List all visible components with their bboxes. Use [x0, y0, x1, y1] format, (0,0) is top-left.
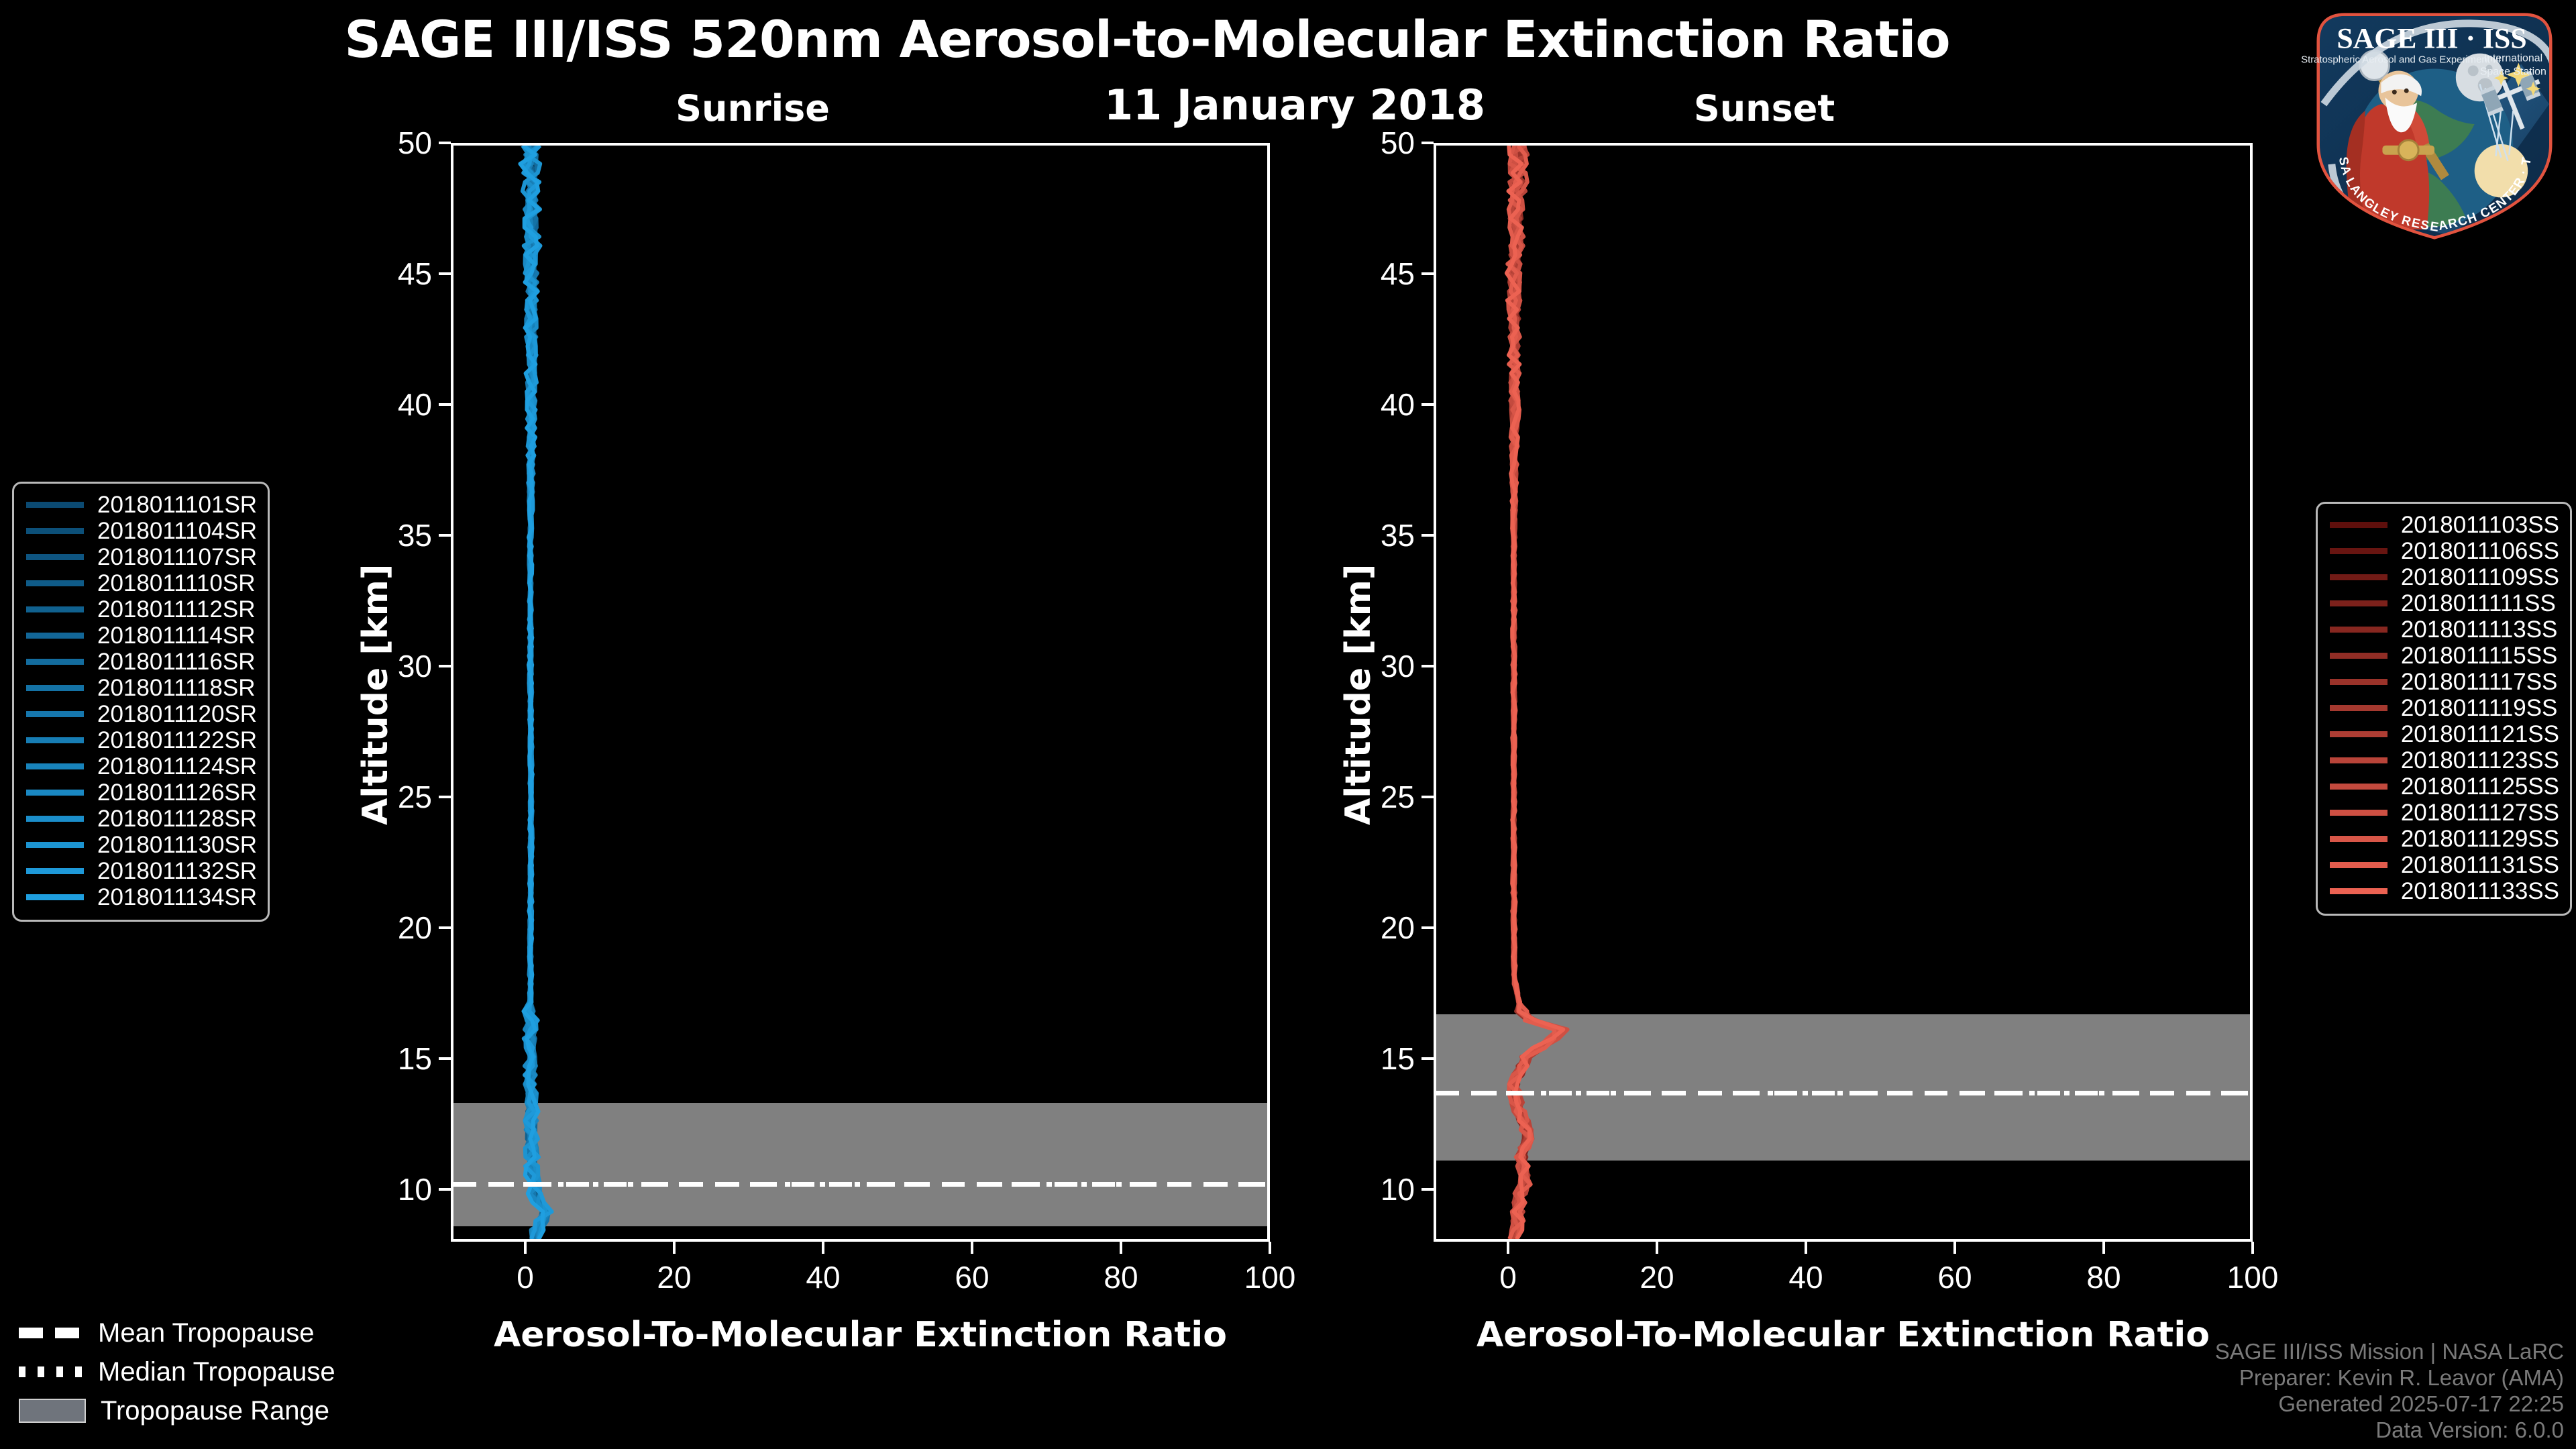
sunset-legend: 2018011103SS2018011106SS2018011109SS2018…: [2316, 502, 2572, 916]
x-tick-mark: [1269, 1242, 1271, 1254]
legend-color-swatch: [2330, 731, 2387, 737]
y-tick-label: 20: [1314, 910, 1415, 946]
legend-color-swatch: [26, 580, 84, 586]
legend-item-label: 2018011130SR: [97, 832, 257, 859]
legend-item-label: 2018011125SS: [2401, 773, 2559, 800]
ss-profile-curves: [1436, 146, 2250, 1239]
y-tick-label: 45: [1314, 256, 1415, 292]
sunset-panel-title: Sunset: [1597, 87, 1932, 129]
legend-item-median-tropopause: Median Tropopause: [19, 1352, 335, 1391]
sage-iii-iss-mission-patch: BALL · NASA LANGLEY RESEARCH CENTER · TA…: [2301, 4, 2568, 246]
x-tick-mark: [1120, 1242, 1122, 1254]
legend-item: 2018011113SS: [2330, 616, 2559, 643]
legend-color-swatch: [26, 528, 84, 534]
dotted-line-icon: [19, 1366, 83, 1377]
legend-item-label: 2018011113SS: [2401, 616, 2558, 643]
legend-item: 2018011120SR: [26, 701, 257, 727]
legend-item: 2018011134SR: [26, 884, 257, 910]
legend-color-swatch: [2330, 653, 2387, 659]
legend-item: 2018011117SS: [2330, 669, 2559, 695]
legend-color-swatch: [26, 763, 84, 769]
legend-item-label: 2018011117SS: [2401, 669, 2558, 696]
page-title: SAGE III/ISS 520nm Aerosol-to-Molecular …: [0, 9, 2294, 69]
legend-item: 2018011103SS: [2330, 512, 2559, 538]
legend-color-swatch: [2330, 862, 2387, 868]
legend-color-swatch: [26, 685, 84, 691]
y-tick-mark: [439, 1057, 451, 1060]
legend-item: 2018011130SR: [26, 832, 257, 858]
legend-color-swatch: [26, 711, 84, 717]
legend-color-swatch: [26, 868, 84, 874]
tropopause-range-label: Tropopause Range: [101, 1396, 329, 1426]
x-tick-label: 20: [621, 1259, 728, 1295]
y-tick-mark: [1421, 534, 1434, 537]
y-tick-mark: [1421, 272, 1434, 275]
y-tick-mark: [439, 534, 451, 537]
sunrise-legend: 2018011101SR2018011104SR2018011107SR2018…: [12, 482, 270, 922]
legend-color-swatch: [2330, 679, 2387, 685]
legend-item-label: 2018011133SS: [2401, 878, 2559, 905]
legend-item-label: 2018011116SR: [97, 649, 255, 676]
legend-item-mean-tropopause: Mean Tropopause: [19, 1313, 335, 1352]
legend-item-label: 2018011122SR: [97, 727, 257, 754]
y-tick-mark: [1421, 926, 1434, 929]
legend-color-swatch: [2330, 784, 2387, 790]
legend-item-label: 2018011132SR: [97, 858, 257, 885]
legend-item: 2018011122SR: [26, 727, 257, 753]
x-tick-label: 0: [472, 1259, 579, 1295]
x-tick-label: 40: [1752, 1259, 1860, 1295]
legend-color-swatch: [26, 894, 84, 900]
y-tick-mark: [1421, 1057, 1434, 1060]
filled-band-icon: [19, 1399, 86, 1423]
x-tick-mark: [2251, 1242, 2254, 1254]
y-tick-label: 10: [331, 1171, 432, 1207]
legend-item-label: 2018011126SR: [97, 780, 257, 806]
footer-line-preparer: Preparer: Kevin R. Leavor (AMA): [2215, 1365, 2564, 1391]
x-tick-mark: [2102, 1242, 2105, 1254]
median-tropopause-label: Median Tropopause: [98, 1357, 335, 1387]
footer-line-mission: SAGE III/ISS Mission | NASA LaRC: [2215, 1339, 2564, 1365]
legend-item: 2018011129SS: [2330, 826, 2559, 852]
legend-color-swatch: [26, 633, 84, 639]
legend-item: 2018011131SS: [2330, 852, 2559, 878]
y-tick-mark: [439, 403, 451, 406]
legend-color-swatch: [2330, 548, 2387, 554]
legend-color-swatch: [2330, 705, 2387, 711]
x-tick-mark: [1507, 1242, 1509, 1254]
legend-item-label: 2018011111SS: [2401, 590, 2556, 617]
legend-item-label: 2018011134SR: [97, 884, 257, 911]
x-tick-label: 20: [1603, 1259, 1711, 1295]
legend-item: 2018011110SR: [26, 570, 257, 596]
legend-color-swatch: [2330, 810, 2387, 816]
legend-color-swatch: [26, 790, 84, 796]
legend-item-label: 2018011124SR: [97, 753, 257, 780]
patch-subtitle-left: Stratospheric Aerosol and Gas Experiment…: [2301, 55, 2501, 66]
legend-color-swatch: [26, 554, 84, 560]
y-tick-mark: [439, 142, 451, 144]
footer-line-generated: Generated 2025-07-17 22:25: [2215, 1391, 2564, 1417]
y-tick-mark: [439, 926, 451, 929]
legend-color-swatch: [2330, 757, 2387, 763]
x-tick-mark: [673, 1242, 676, 1254]
legend-item-label: 2018011101SR: [97, 492, 257, 519]
legend-item-label: 2018011120SR: [97, 701, 257, 728]
y-tick-label: 20: [331, 910, 432, 946]
legend-item: 2018011125SS: [2330, 773, 2559, 800]
legend-item-label: 2018011104SR: [97, 518, 257, 545]
y-tick-mark: [1421, 1188, 1434, 1191]
y-tick-mark: [1421, 142, 1434, 144]
y-tick-label: 35: [1314, 517, 1415, 553]
x-tick-label: 80: [2050, 1259, 2157, 1295]
y-tick-label: 15: [1314, 1040, 1415, 1077]
legend-item-label: 2018011112SR: [97, 596, 255, 623]
legend-color-swatch: [26, 816, 84, 822]
legend-item: 2018011101SR: [26, 492, 257, 518]
legend-item: 2018011121SS: [2330, 721, 2559, 747]
legend-item-label: 2018011127SS: [2401, 800, 2559, 826]
sr-profile-curves: [453, 146, 1267, 1239]
x-tick-label: 60: [1901, 1259, 2008, 1295]
legend-item-label: 2018011107SR: [97, 544, 257, 571]
y-tick-label: 50: [1314, 125, 1415, 161]
legend-item: 2018011106SS: [2330, 538, 2559, 564]
legend-item: 2018011111SS: [2330, 590, 2559, 616]
legend-item: 2018011115SS: [2330, 643, 2559, 669]
sunrise-panel-title: Sunrise: [585, 87, 920, 129]
legend-item-label: 2018011131SS: [2401, 852, 2559, 879]
legend-item: 2018011116SR: [26, 649, 257, 675]
y-tick-mark: [439, 796, 451, 798]
mean-tropopause-line: [1436, 1091, 2250, 1095]
y-tick-label: 45: [331, 256, 432, 292]
x-tick-mark: [1656, 1242, 1658, 1254]
footer-line-version: Data Version: 6.0.0: [2215, 1417, 2564, 1444]
legend-item: 2018011107SR: [26, 544, 257, 570]
y-tick-label: 35: [331, 517, 432, 553]
x-tick-label: 0: [1454, 1259, 1562, 1295]
legend-item-label: 2018011123SS: [2401, 747, 2559, 774]
legend-item-label: 2018011118SR: [97, 675, 255, 702]
y-tick-mark: [1421, 665, 1434, 667]
legend-color-swatch: [2330, 522, 2387, 528]
x-tick-mark: [1953, 1242, 1956, 1254]
y-tick-mark: [439, 272, 451, 275]
legend-item-label: 2018011114SR: [97, 623, 255, 649]
y-tick-mark: [1421, 796, 1434, 798]
x-tick-mark: [971, 1242, 973, 1254]
legend-item: 2018011128SR: [26, 806, 257, 832]
y-tick-mark: [1421, 403, 1434, 406]
legend-color-swatch: [26, 606, 84, 612]
legend-item: 2018011132SR: [26, 858, 257, 884]
patch-title: SAGE III · ISS: [2337, 23, 2526, 55]
date-title: 11 January 2018: [959, 80, 1630, 129]
legend-color-swatch: [2330, 600, 2387, 606]
y-tick-label: 50: [331, 125, 432, 161]
legend-item: 2018011104SR: [26, 518, 257, 544]
x-tick-mark: [524, 1242, 527, 1254]
legend-item: 2018011109SS: [2330, 564, 2559, 590]
legend-color-swatch: [26, 659, 84, 665]
legend-item: 2018011124SR: [26, 753, 257, 780]
legend-item-label: 2018011103SS: [2401, 512, 2559, 539]
sunrise-y-axis-title: Altitude [km]: [356, 563, 396, 825]
legend-item-label: 2018011119SS: [2401, 695, 2558, 722]
mean-tropopause-line: [453, 1182, 1267, 1187]
x-tick-label: 80: [1067, 1259, 1175, 1295]
y-tick-mark: [439, 1188, 451, 1191]
legend-item: 2018011112SR: [26, 596, 257, 623]
tropopause-legend: Mean Tropopause Median Tropopause Tropop…: [19, 1313, 335, 1430]
legend-item: 2018011123SS: [2330, 747, 2559, 773]
legend-item-label: 2018011129SS: [2401, 826, 2559, 853]
legend-color-swatch: [2330, 836, 2387, 842]
legend-item-label: 2018011115SS: [2401, 643, 2558, 669]
legend-item: 2018011127SS: [2330, 800, 2559, 826]
x-tick-label: 40: [769, 1259, 877, 1295]
sunset-x-axis-title: Aerosol-To-Molecular Extinction Ratio: [1434, 1315, 2253, 1355]
legend-item: 2018011126SR: [26, 780, 257, 806]
legend-color-swatch: [26, 842, 84, 848]
legend-item: 2018011133SS: [2330, 878, 2559, 904]
legend-item-label: 2018011121SS: [2401, 721, 2559, 748]
legend-color-swatch: [2330, 888, 2387, 894]
legend-item-tropopause-range: Tropopause Range: [19, 1391, 335, 1430]
x-tick-label: 100: [2199, 1259, 2306, 1295]
legend-item-label: 2018011110SR: [97, 570, 255, 597]
legend-color-swatch: [2330, 627, 2387, 633]
sunset-plot: [1434, 143, 2253, 1242]
legend-item-label: 2018011106SS: [2401, 538, 2559, 565]
legend-item: 2018011114SR: [26, 623, 257, 649]
x-tick-label: 60: [918, 1259, 1026, 1295]
y-tick-label: 40: [331, 386, 432, 423]
legend-color-swatch: [26, 737, 84, 743]
y-tick-mark: [439, 665, 451, 667]
y-tick-label: 15: [331, 1040, 432, 1077]
legend-item: 2018011118SR: [26, 675, 257, 701]
sunrise-plot: [451, 143, 1270, 1242]
patch-subtitle-right-2: Space Station: [2480, 66, 2546, 77]
patch-subtitle-right-1: International: [2484, 53, 2543, 64]
legend-item-label: 2018011128SR: [97, 806, 257, 833]
x-tick-mark: [822, 1242, 824, 1254]
legend-color-swatch: [26, 502, 84, 508]
dashed-line-icon: [19, 1328, 83, 1338]
legend-item-label: 2018011109SS: [2401, 564, 2559, 591]
mean-tropopause-label: Mean Tropopause: [98, 1318, 314, 1348]
y-tick-label: 10: [1314, 1171, 1415, 1207]
x-tick-mark: [1805, 1242, 1807, 1254]
y-tick-label: 40: [1314, 386, 1415, 423]
legend-color-swatch: [2330, 574, 2387, 580]
sunrise-x-axis-title: Aerosol-To-Molecular Extinction Ratio: [451, 1315, 1270, 1355]
footer-attribution: SAGE III/ISS Mission | NASA LaRC Prepare…: [2215, 1339, 2564, 1444]
legend-item: 2018011119SS: [2330, 695, 2559, 721]
x-tick-label: 100: [1216, 1259, 1324, 1295]
sunset-y-axis-title: Altitude [km]: [1338, 563, 1379, 825]
